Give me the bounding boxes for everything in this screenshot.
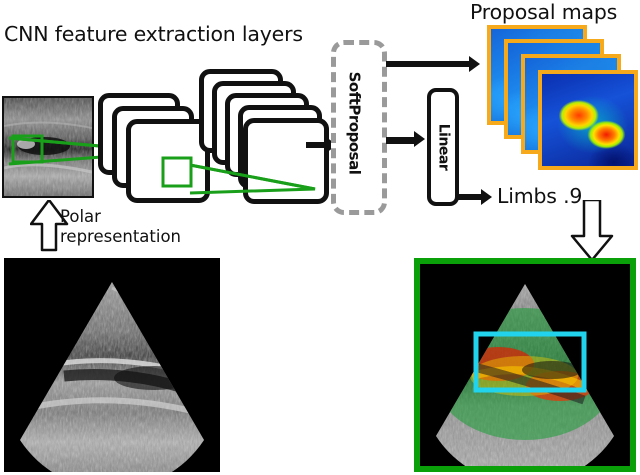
polar-caption-line2: representation [60, 227, 181, 247]
arrow-maps-to-result-hollow [570, 200, 616, 262]
proposal-map-4-front [538, 70, 638, 170]
receptive-field-cone-b [160, 155, 350, 215]
polar-representation-caption: Polar representation [60, 207, 181, 247]
input-ultrasound-sector-scan [4, 258, 220, 472]
arrow-module-to-linear [386, 137, 416, 144]
polar-caption-line1: Polar [60, 207, 181, 227]
proposal-maps-title: Proposal maps [470, 0, 617, 24]
linear-layer-block: Linear [427, 88, 459, 206]
result-ultrasound-heatmap-overlay [414, 258, 636, 472]
arrow-module-to-linear-head [414, 131, 425, 147]
arrow-cnn-to-module [306, 142, 328, 148]
arrow-linear-to-prediction-head [481, 189, 492, 205]
arrow-module-to-maps [386, 61, 471, 67]
arrow-linear-to-prediction [456, 194, 483, 200]
page-title: CNN feature extraction layers [4, 22, 303, 46]
softproposal-label-box: SoftProposal [331, 40, 377, 205]
arrow-module-to-maps-head [469, 56, 480, 72]
linear-label: Linear [435, 124, 451, 171]
result-bounding-box [420, 264, 630, 466]
softproposal-label: SoftProposal [345, 71, 363, 174]
